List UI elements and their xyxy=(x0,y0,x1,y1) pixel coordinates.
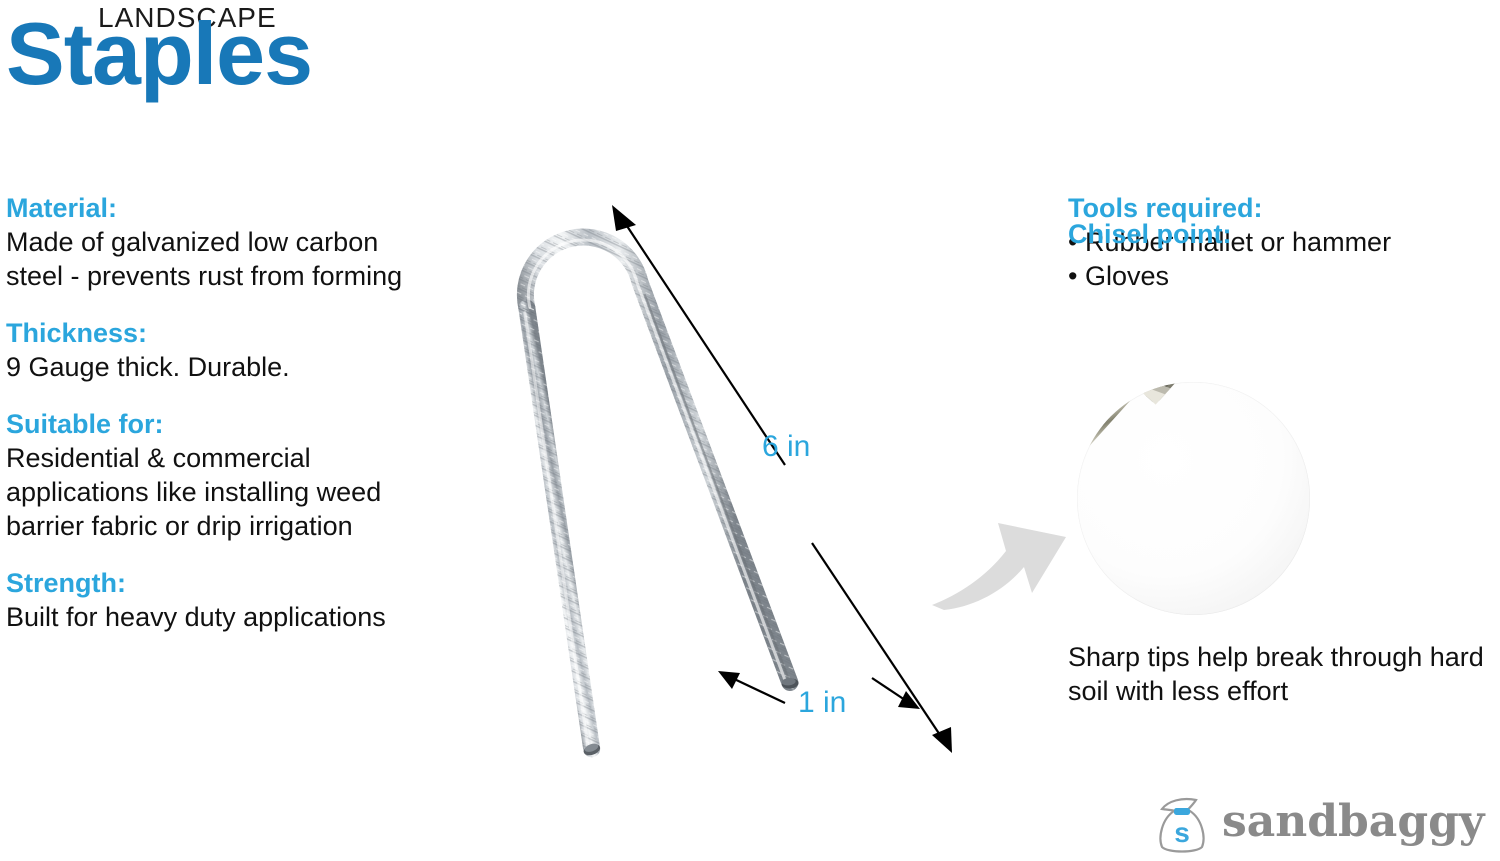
feature-material-heading: Material: xyxy=(6,192,426,225)
page-title: Staples xyxy=(6,10,312,98)
feature-strength: Strength: Built for heavy duty applicati… xyxy=(6,567,426,634)
brand-logo: s sandbaggy xyxy=(1152,793,1492,855)
feature-material-body: Made of galvanized low carbon steel - pr… xyxy=(6,225,426,293)
sandbag-icon-letter: s xyxy=(1174,817,1190,848)
feature-suitable-for-heading: Suitable for: xyxy=(6,408,426,441)
staple-graphic xyxy=(440,175,980,765)
arrowhead-length-top xyxy=(612,205,636,231)
chisel-point-graphic xyxy=(1077,382,1310,615)
feature-strength-heading: Strength: xyxy=(6,567,426,600)
staple-illustration xyxy=(440,175,980,765)
dimension-label-length: 6 in xyxy=(762,430,810,464)
feature-material: Material: Made of galvanized low carbon … xyxy=(6,192,426,293)
feature-thickness-body: 9 Gauge thick. Durable. xyxy=(6,350,426,384)
feature-suitable-for: Suitable for: Residential & commercial a… xyxy=(6,408,426,543)
feature-suitable-for-body: Residential & commercial applications li… xyxy=(6,441,426,543)
feature-chisel-heading: Chisel point: xyxy=(1068,218,1232,251)
feature-thickness: Thickness: 9 Gauge thick. Durable. xyxy=(6,317,426,384)
brand-wordmark: sandbaggy xyxy=(1222,799,1484,845)
feature-chisel-point: Chisel point: xyxy=(1068,218,1232,251)
chisel-point-caption: Sharp tips help break through hard soil … xyxy=(1068,640,1500,708)
chisel-point-closeup xyxy=(1077,382,1310,615)
infographic-page: LANDSCAPE Staples Material: Made of galv… xyxy=(0,0,1500,861)
dimension-label-width: 1 in xyxy=(798,686,846,720)
tools-item-gloves: • Gloves xyxy=(1068,259,1391,293)
sandbag-icon: s xyxy=(1152,795,1214,855)
feature-strength-body: Built for heavy duty applications xyxy=(6,600,426,634)
feature-thickness-heading: Thickness: xyxy=(6,317,426,350)
left-feature-column: Material: Made of galvanized low carbon … xyxy=(6,192,426,658)
arrowhead-length-bottom xyxy=(932,727,952,753)
